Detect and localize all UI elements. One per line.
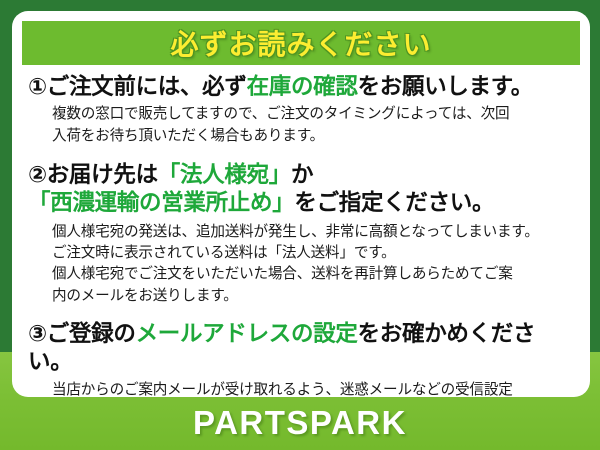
notice-item-2-subline-3: 個人様宅宛でご注文をいただいた場合、送料を再計算しあらためてご案 — [52, 264, 576, 285]
notice-body: ①ご注文前には、必ず在庫の確認をお願いします。 複数の窓口で販売してますので、ご… — [12, 73, 590, 397]
notice-item-2-subline-1: 個人様宅宛の発送は、追加送料が発生し、非常に高額となってしまいます。 — [52, 222, 576, 243]
notice-item-2-heading-part-1: お届け先は — [47, 162, 158, 187]
notice-item-2-subline-4: 内のメールをお送りします。 — [52, 286, 576, 307]
title-banner: 必ずお読みください — [22, 21, 580, 65]
notice-item-2-heading-part-3: か — [291, 162, 313, 187]
notice-item-1-heading: ①ご注文前には、必ず在庫の確認をお願いします。 — [28, 73, 576, 101]
notice-item-2-heading-highlight-1: 「法人様宛」 — [158, 162, 291, 187]
notice-item-3-heading: ③ご登録のメールアドレスの設定をお確かめください。 — [28, 320, 576, 377]
notice-item-2-heading: ②お届け先は「法人様宛」か「西濃運輸の営業所止め」をご指定ください。 — [28, 161, 576, 218]
notice-item-2-subtext: 個人様宅宛の発送は、追加送料が発生し、非常に高額となってしまいます。 ご注文時に… — [52, 222, 576, 307]
notice-item-1-subline-1: 複数の窓口で販売してますので、ご注文のタイミングによっては、次回 — [52, 104, 576, 125]
notice-item-1-heading-part-3: をお願いします。 — [358, 74, 533, 99]
notice-item-1-number: ① — [28, 74, 47, 99]
notice-item-3-heading-part-1: ご登録の — [47, 321, 136, 346]
white-panel: 必ずお読みください ①ご注文前には、必ず在庫の確認をお願いします。 複数の窓口で… — [12, 11, 590, 397]
brand-logo: PARTSPARK — [193, 404, 407, 442]
notice-item-1-heading-highlight: 在庫の確認 — [247, 74, 358, 99]
notice-item-3-heading-highlight: メールアドレスの設定 — [136, 321, 358, 346]
notice-item-2-subline-2: ご注文時に表示されている送料は「法人送料」です。 — [52, 243, 576, 264]
notice-item-2: ②お届け先は「法人様宛」か「西濃運輸の営業所止め」をご指定ください。 個人様宅宛… — [28, 161, 576, 307]
notice-item-1-subline-2: 入荷をお待ち頂いただく場合もあります。 — [52, 126, 576, 147]
notice-item-2-number: ② — [28, 162, 47, 187]
notice-card: 必ずお読みください ①ご注文前には、必ず在庫の確認をお願いします。 複数の窓口で… — [0, 0, 600, 450]
notice-item-3-subline-1: 当店からのご案内メールが受け取れるよう、迷惑メールなどの受信設定 — [52, 380, 576, 398]
notice-item-2-heading-part-5: をご指定ください。 — [294, 190, 494, 215]
page-title: 必ずお読みください — [170, 23, 431, 63]
notice-item-3: ③ご登録のメールアドレスの設定をお確かめください。 当店からのご案内メールが受け… — [28, 320, 576, 397]
notice-item-3-subtext: 当店からのご案内メールが受け取れるよう、迷惑メールなどの受信設定 をあらかじめご… — [52, 380, 576, 398]
notice-item-3-number: ③ — [28, 321, 47, 346]
notice-item-1-heading-part-1: ご注文前には、必ず — [47, 74, 247, 99]
notice-item-1: ①ご注文前には、必ず在庫の確認をお願いします。 複数の窓口で販売してますので、ご… — [28, 73, 576, 147]
notice-item-1-subtext: 複数の窓口で販売してますので、ご注文のタイミングによっては、次回 入荷をお待ち頂… — [52, 104, 576, 147]
notice-item-2-heading-highlight-2: 「西濃運輸の営業所止め」 — [28, 190, 294, 215]
footer-logo-area: PARTSPARK — [0, 396, 600, 450]
